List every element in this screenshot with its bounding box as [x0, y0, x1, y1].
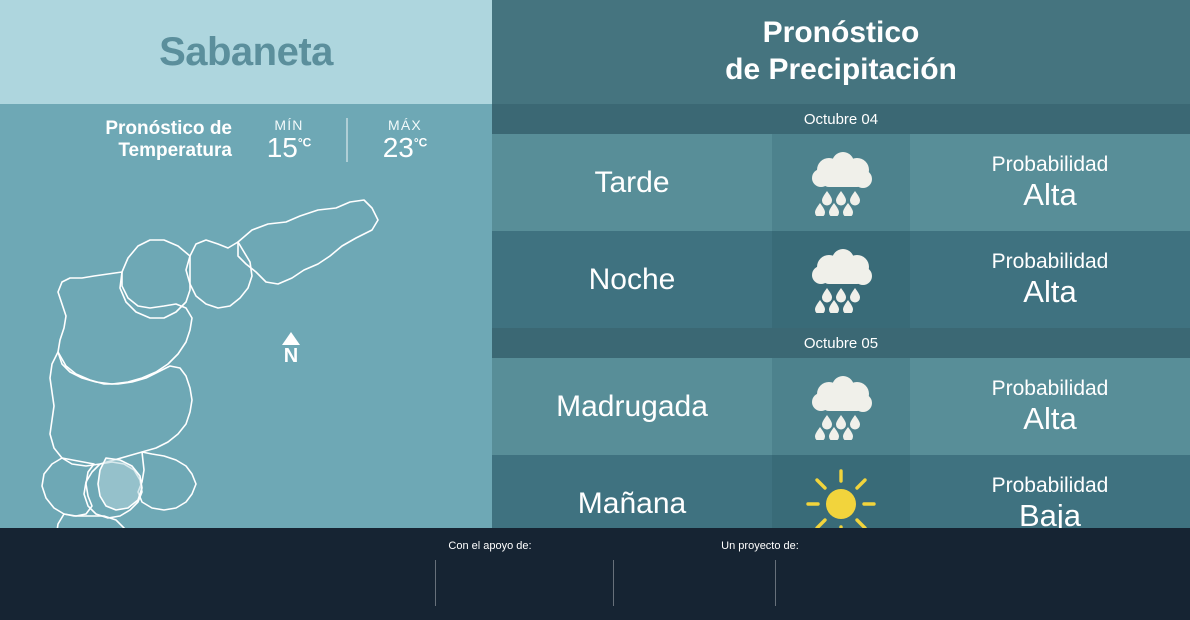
weather-icon-cell-madrugada — [772, 358, 910, 455]
page-title: Sabaneta — [159, 30, 333, 75]
temperature-label-line1: Pronóstico de — [56, 118, 232, 140]
date-band-1: Octubre 04 — [492, 104, 1190, 134]
temperature-min: MÍN 15°C — [258, 118, 320, 163]
map-region-caldas — [56, 514, 142, 528]
forecast-row-noche: Noche — [492, 231, 1190, 328]
map-region-medellin — [50, 352, 192, 466]
left-panel: Sabaneta Pronóstico de Temperatura MÍN 1… — [0, 0, 492, 528]
period-label-madrugada: Madrugada — [492, 358, 772, 455]
temperature-max-caption: MÁX — [374, 118, 436, 133]
period-label-noche: Noche — [492, 231, 772, 328]
forecast-title-line1: Pronóstico — [763, 15, 920, 52]
map-svg — [0, 172, 492, 528]
probability-word-noche: Probabilidad — [992, 250, 1109, 273]
map-region-envigado — [138, 452, 196, 510]
probability-cell-madrugada: Probabilidad Alta — [910, 358, 1190, 455]
map-region-sabaneta — [98, 458, 142, 510]
municipality-map: N — [0, 172, 492, 528]
temperature-max-number: 23 — [383, 132, 414, 163]
probability-word-manana: Probabilidad — [992, 474, 1109, 497]
footer-divider-2 — [613, 560, 614, 606]
temperature-label: Pronóstico de Temperatura — [56, 118, 232, 163]
compass-label: N — [276, 346, 306, 366]
city-header: Sabaneta — [0, 0, 492, 104]
probability-level-noche: Alta — [1023, 275, 1076, 309]
precipitation-forecast-panel: Pronóstico de Precipitación Octubre 04 T… — [492, 0, 1190, 528]
forecast-row-tarde: Tarde — [492, 134, 1190, 231]
forecast-title-line2: de Precipitación — [725, 52, 957, 89]
footer-divider-1 — [435, 560, 436, 606]
probability-cell-noche: Probabilidad Alta — [910, 231, 1190, 328]
temperature-summary: Pronóstico de Temperatura MÍN 15°C MÁX 2… — [0, 104, 492, 176]
temperature-min-unit: °C — [298, 136, 311, 150]
rain-cloud-icon — [805, 374, 877, 440]
period-label-tarde: Tarde — [492, 134, 772, 231]
weather-icon-cell-tarde — [772, 134, 910, 231]
temperature-max-unit: °C — [414, 136, 427, 150]
footer: Con el apoyo de: Un proyecto de: SIATA e… — [0, 528, 1190, 620]
footer-divider-3 — [775, 560, 776, 606]
probability-word-madrugada: Probabilidad — [992, 377, 1109, 400]
map-region-copacabana — [186, 240, 252, 308]
date-band-2: Octubre 05 — [492, 328, 1190, 358]
temperature-label-line2: Temperatura — [56, 140, 232, 162]
temperature-max: MÁX 23°C — [374, 118, 436, 163]
temperature-divider — [346, 118, 348, 162]
rain-cloud-icon — [805, 247, 877, 313]
weather-icon-cell-noche — [772, 231, 910, 328]
temperature-max-value: 23°C — [374, 133, 436, 162]
compass-north-indicator: N — [276, 332, 306, 366]
probability-word-tarde: Probabilidad — [992, 153, 1109, 176]
rain-cloud-icon — [805, 150, 877, 216]
temperature-min-caption: MÍN — [258, 118, 320, 133]
forecast-row-madrugada: Madrugada — [492, 358, 1190, 455]
map-region-barbosa — [238, 200, 378, 284]
project-label: Un proyecto de: — [640, 540, 880, 552]
probability-level-madrugada: Alta — [1023, 402, 1076, 436]
map-region-bello — [58, 272, 192, 384]
probability-cell-tarde: Probabilidad Alta — [910, 134, 1190, 231]
temperature-min-number: 15 — [267, 132, 298, 163]
compass-arrow-icon — [282, 332, 300, 345]
forecast-title: Pronóstico de Precipitación — [492, 0, 1190, 104]
map-region-bello-north — [120, 240, 190, 318]
probability-level-tarde: Alta — [1023, 178, 1076, 212]
support-label: Con el apoyo de: — [370, 540, 610, 552]
weather-forecast-infographic: Sabaneta Pronóstico de Temperatura MÍN 1… — [0, 0, 1190, 620]
temperature-min-value: 15°C — [258, 133, 320, 162]
